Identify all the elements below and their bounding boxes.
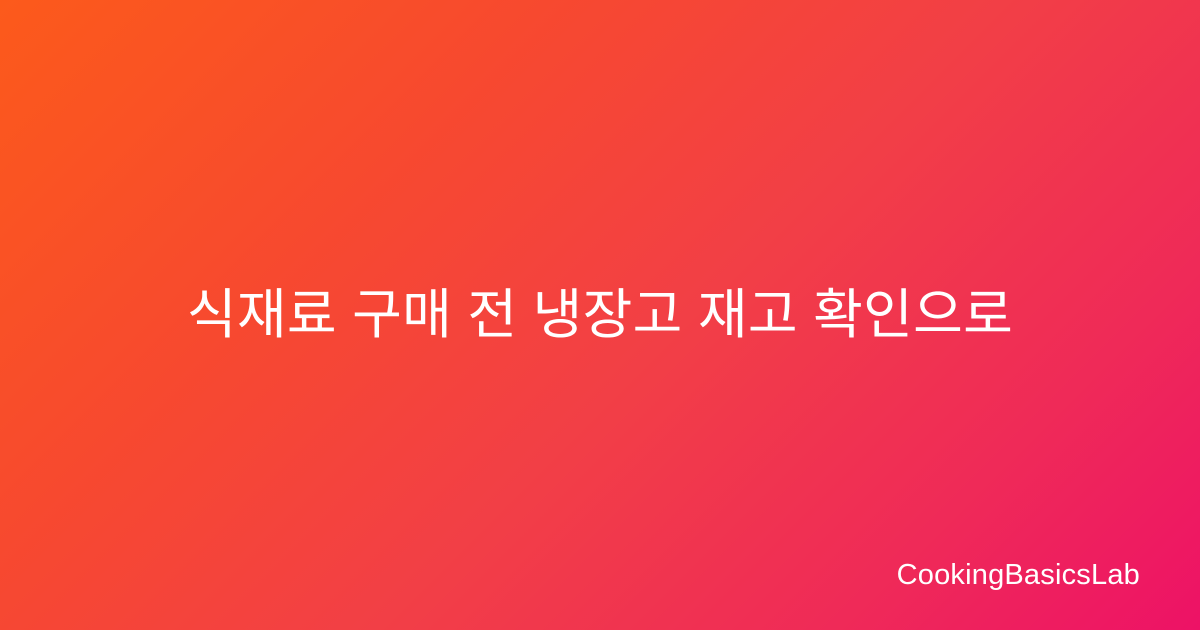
brand-name: CookingBasicsLab (897, 561, 1140, 590)
page-title: 식재료 구매 전 냉장고 재고 확인으로 (70, 279, 1130, 352)
social-share-card: 식재료 구매 전 냉장고 재고 확인으로 CookingBasicsLab (0, 0, 1200, 630)
title-block: 식재료 구매 전 냉장고 재고 확인으로 (0, 0, 1200, 630)
brand-block: CookingBasicsLab (897, 561, 1140, 590)
